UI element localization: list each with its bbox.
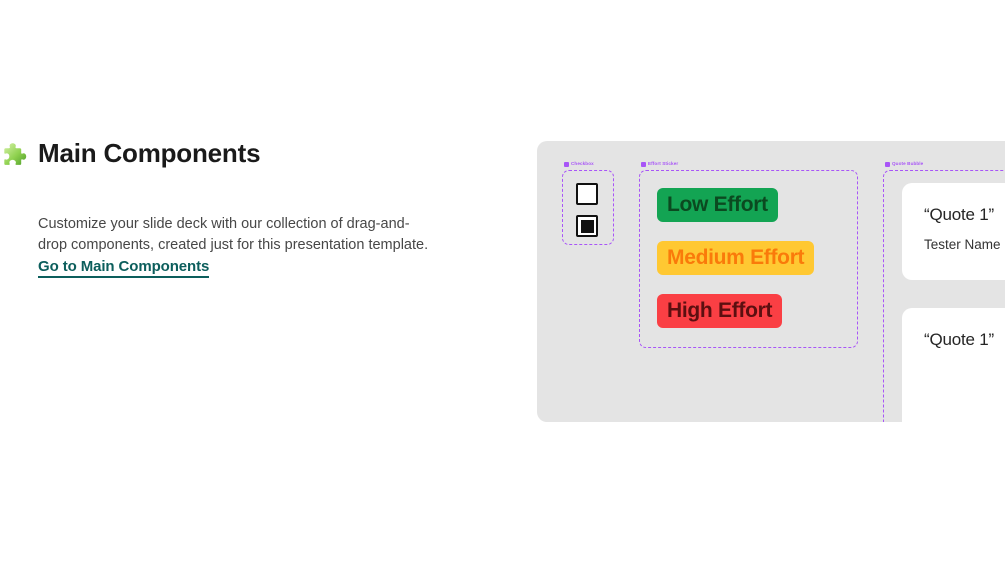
components-preview-panel: Checkbox Effort Sticker Low Effort Mediu…: [537, 141, 1005, 422]
puzzle-piece-icon: [2, 141, 28, 167]
quote-text: “Quote 1”: [924, 205, 1005, 225]
sticker-high-effort[interactable]: High Effort: [657, 294, 782, 328]
go-to-main-components-link[interactable]: Go to Main Components: [38, 258, 209, 278]
component-group-effort-sticker[interactable]: Effort Sticker Low Effort Medium Effort …: [639, 170, 858, 348]
quote-card[interactable]: “Quote 1”: [902, 308, 1005, 422]
group-label-checkbox: Checkbox: [564, 161, 594, 167]
component-group-quote-bubble[interactable]: Quote Bubble “Quote 1” Tester Name “Quot…: [883, 170, 1005, 422]
section-header: Main Components: [0, 138, 470, 178]
sticker-low-effort[interactable]: Low Effort: [657, 188, 778, 222]
group-anchor-dot-icon: [641, 162, 646, 167]
group-anchor-dot-icon: [885, 162, 890, 167]
section-description: Customize your slide deck with our colle…: [38, 214, 430, 256]
component-group-checkbox[interactable]: Checkbox: [562, 170, 614, 245]
group-anchor-dot-icon: [564, 162, 569, 167]
group-label-effort-sticker: Effort Sticker: [641, 161, 678, 167]
quote-author: Tester Name: [924, 237, 1005, 252]
quote-text: “Quote 1”: [924, 330, 1005, 350]
group-label-quote-bubble: Quote Bubble: [885, 161, 923, 167]
page-title: Main Components: [38, 138, 260, 169]
sticker-medium-effort[interactable]: Medium Effort: [657, 241, 814, 275]
checkbox-checked[interactable]: [576, 215, 598, 237]
quote-card[interactable]: “Quote 1” Tester Name: [902, 183, 1005, 280]
main-components-section: Main Components Customize your slide dec…: [0, 138, 470, 178]
checkbox-unchecked[interactable]: [576, 183, 598, 205]
